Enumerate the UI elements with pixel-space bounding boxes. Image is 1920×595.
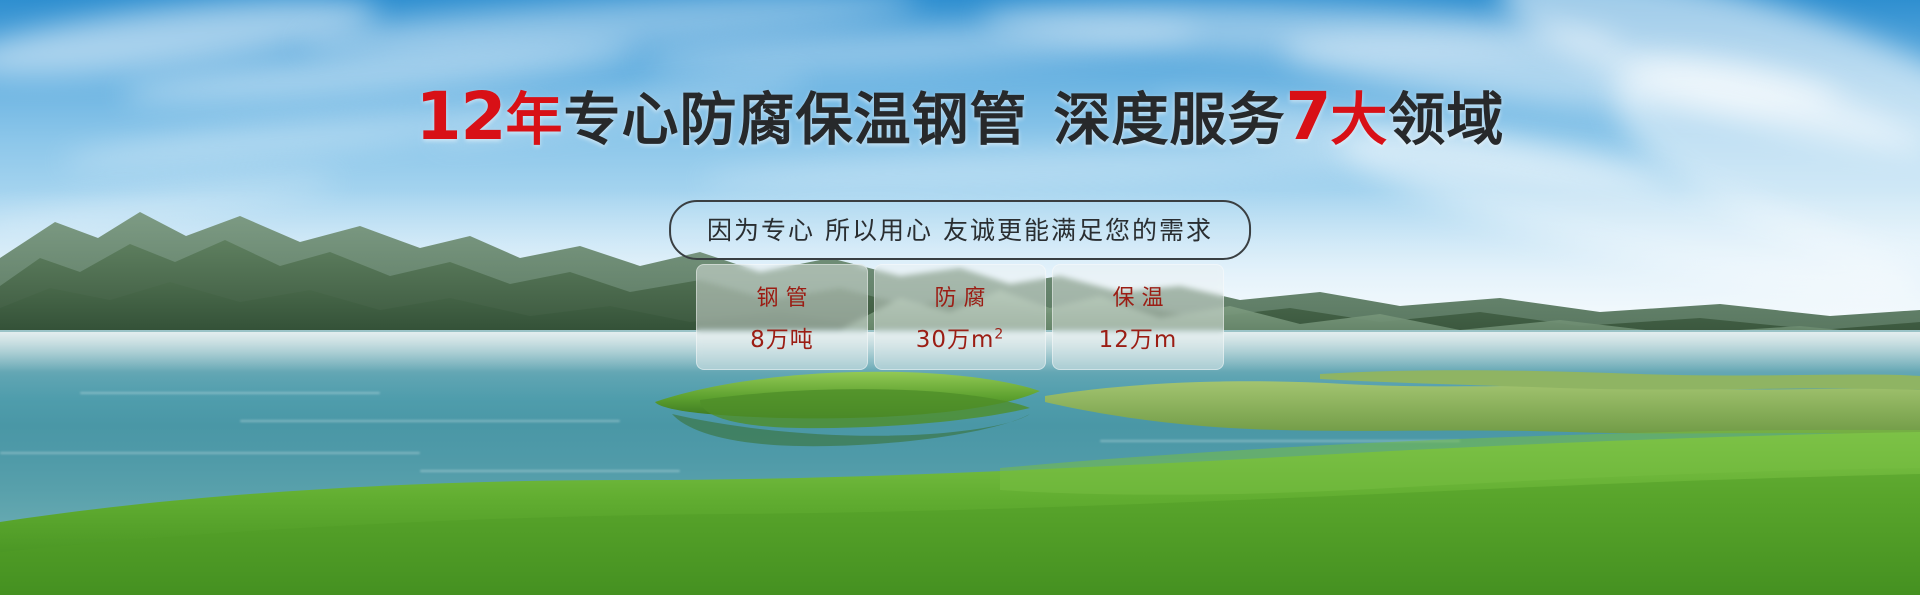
hero-banner: 12年专心防腐保温钢管深度服务7大领域 因为专心 所以用心 友诚更能满足您的需求… <box>0 0 1920 595</box>
headline-years-unit: 年 <box>505 87 563 153</box>
stat-card-value: 30万m2 <box>916 320 1005 354</box>
banner-content: 12年专心防腐保温钢管深度服务7大领域 因为专心 所以用心 友诚更能满足您的需求… <box>0 0 1920 595</box>
stat-card-value: 12万m <box>1099 320 1178 354</box>
stat-card-label: 防腐 <box>927 280 992 312</box>
stat-card-value-text: 12万m <box>1099 327 1178 353</box>
stat-card-value-text: 30万m <box>916 327 995 353</box>
stat-card-value: 8万吨 <box>750 320 814 354</box>
stats-card-group: 钢管 8万吨 防腐 30万m2 保温 12万m <box>696 264 1224 370</box>
stat-card-label: 保温 <box>1105 280 1170 312</box>
subtitle-pill: 因为专心 所以用心 友诚更能满足您的需求 <box>669 200 1251 260</box>
stat-card-value-text: 8万吨 <box>750 327 814 353</box>
headline-fields-number: 7 <box>1285 78 1330 155</box>
headline: 12年专心防腐保温钢管深度服务7大领域 <box>0 84 1920 150</box>
headline-years-number: 12 <box>416 78 506 155</box>
stat-card: 防腐 30万m2 <box>874 264 1046 370</box>
headline-service-text: 深度服务 <box>1053 87 1285 153</box>
stat-card: 保温 12万m <box>1052 264 1224 370</box>
stat-card-value-superscript: 2 <box>994 326 1004 342</box>
stat-card-label: 钢管 <box>749 280 814 312</box>
headline-fields-text: 领域 <box>1388 87 1504 153</box>
stat-card: 钢管 8万吨 <box>696 264 868 370</box>
headline-main-text: 专心防腐保温钢管 <box>563 87 1027 153</box>
headline-fields-unit: 大 <box>1330 87 1388 153</box>
